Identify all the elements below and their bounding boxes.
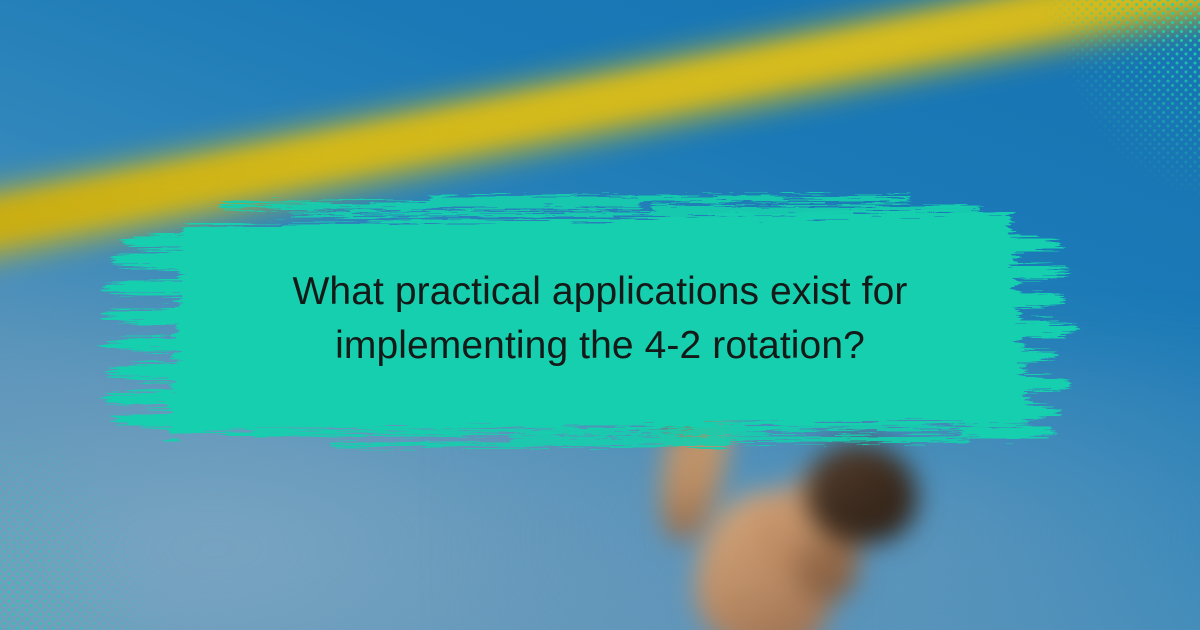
card-headline: What practical applications exist for im… bbox=[180, 265, 1020, 373]
athlete-head bbox=[805, 443, 917, 543]
social-share-card: What practical applications exist for im… bbox=[0, 0, 1200, 630]
